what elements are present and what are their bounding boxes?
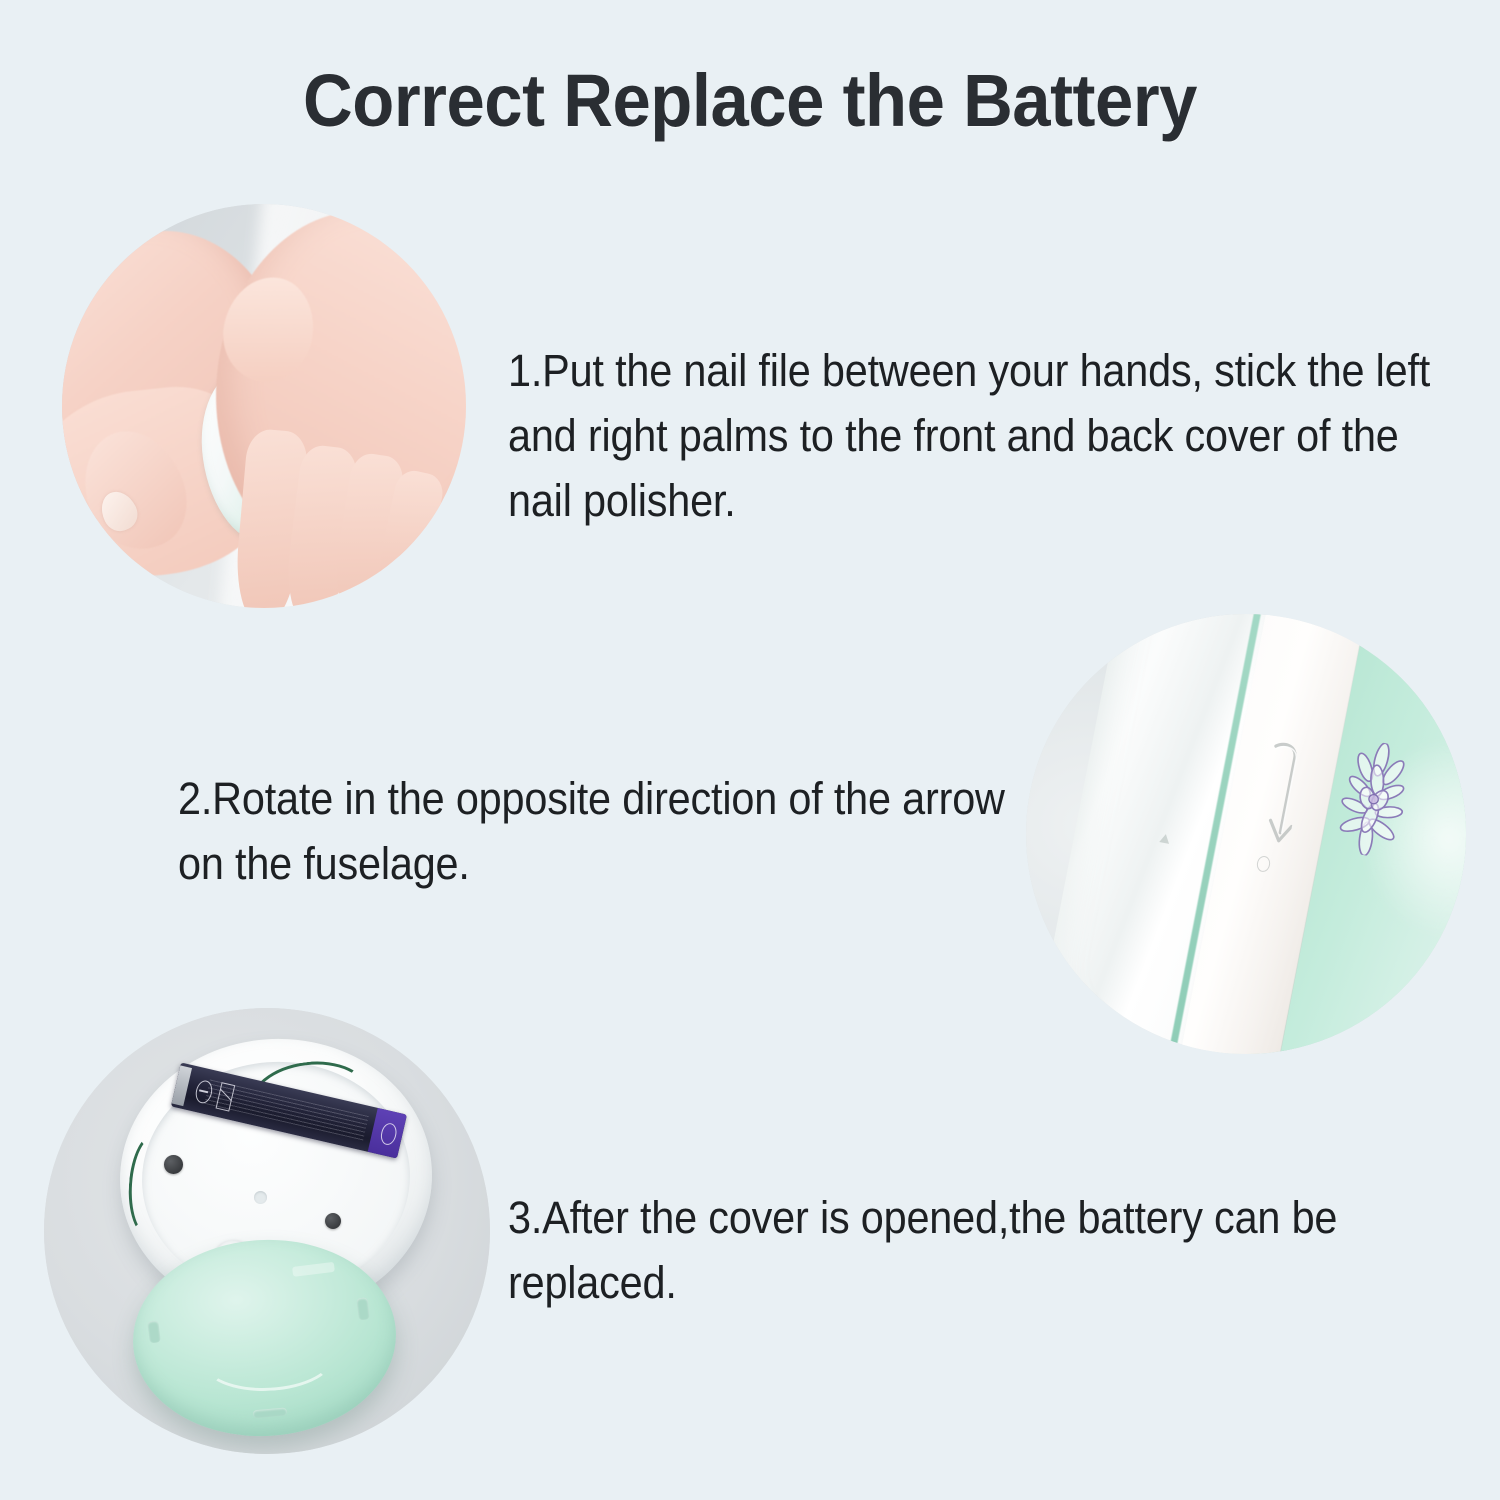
step-1-text: 1.Put the nail file between your hands, … <box>508 338 1437 533</box>
screw-head-1 <box>164 1155 183 1174</box>
step-3-text: 3.After the cover is opened,the battery … <box>508 1185 1391 1315</box>
step-2-text: 2.Rotate in the opposite direction of th… <box>178 766 1006 896</box>
shell-dimple <box>254 1191 267 1204</box>
cover-groove <box>201 1323 337 1395</box>
step-1-image-hands-holding-device <box>62 204 466 608</box>
battery-negative-terminal <box>172 1065 192 1106</box>
photo-scene-arrow <box>1026 614 1466 1054</box>
cover-tab-right <box>357 1297 370 1320</box>
cover-tab-bottom <box>253 1407 288 1418</box>
triangle-marker-icon <box>1159 833 1171 844</box>
cover-tab-left <box>147 1320 160 1343</box>
photo-scene-battery <box>44 1008 490 1454</box>
photo-scene-hands <box>62 204 466 608</box>
step-2-image-device-arrow <box>1026 614 1466 1054</box>
instruction-poster: Correct Replace the Battery 1.Put the na… <box>0 0 1500 1500</box>
step-3-image-battery-compartment <box>44 1008 490 1454</box>
page-title: Correct Replace the Battery <box>53 58 1448 143</box>
cover-notch <box>292 1262 335 1277</box>
